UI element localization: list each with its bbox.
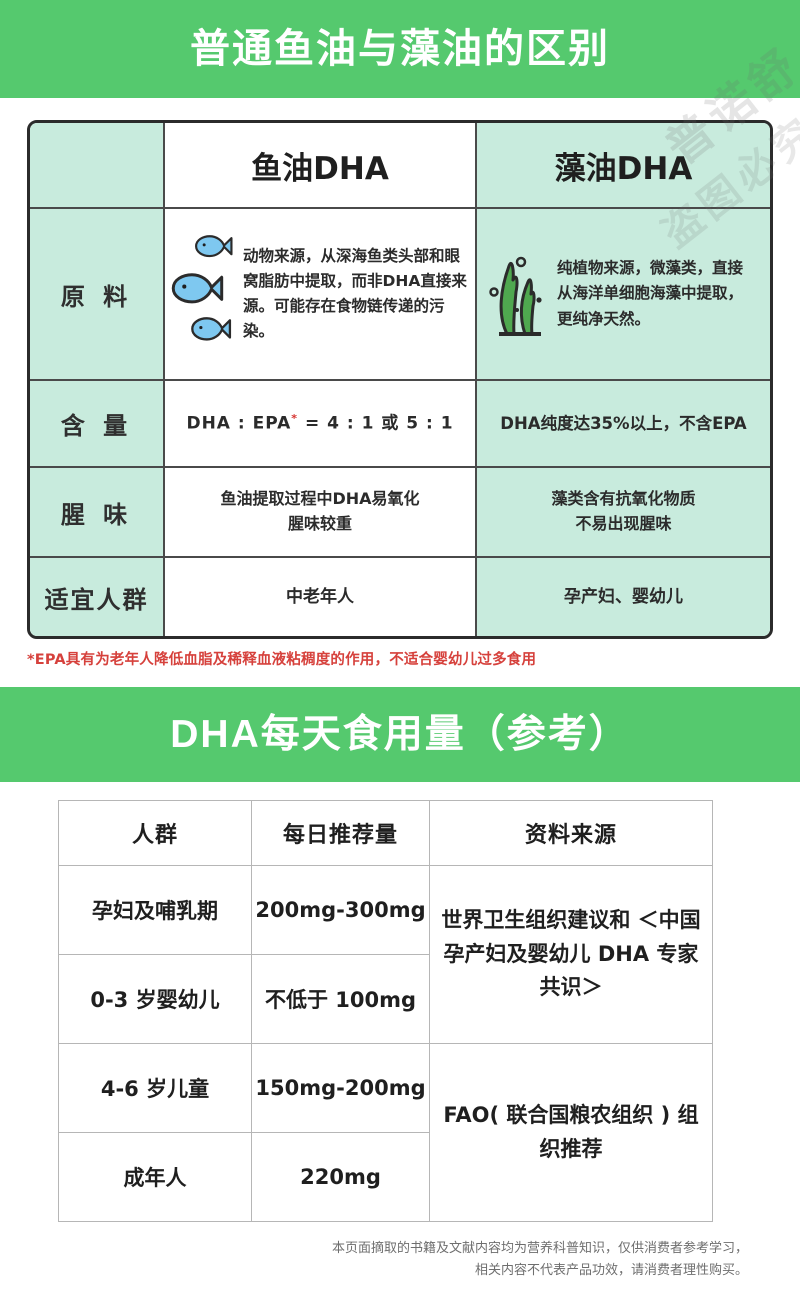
- dosage-group-1: 0-3 岁婴幼儿: [59, 955, 252, 1044]
- dosage-table: 人群 每日推荐量 资料来源 孕妇及哺乳期 200mg-300mg 世界卫生组织建…: [58, 800, 713, 1222]
- disclaimer-line-2: 相关内容不代表产品功效，请消费者理性购买。: [0, 1260, 748, 1282]
- dosage-amount-1: 不低于 100mg: [252, 955, 430, 1044]
- section-1-title: 普通鱼油与藻油的区别: [190, 29, 610, 69]
- fish-icon: [169, 229, 239, 359]
- dosage-header-amount: 每日推荐量: [252, 801, 430, 866]
- disclaimer-line-1: 本页面摘取的书籍及文献内容均为营养科普知识，仅供消费者参考学习，: [0, 1238, 748, 1260]
- section-2-title: DHA每天食用量（参考）: [170, 715, 630, 754]
- cell-fish-smell-line1: 鱼油提取过程中DHA易氧化: [165, 487, 475, 512]
- dosage-source-who: 世界卫生组织建议和 ＜中国孕产妇及婴幼儿 DHA 专家共识＞: [430, 866, 713, 1044]
- content-ratio-suffix: = 4 : 1 或 5 : 1: [298, 414, 454, 434]
- epa-footnote: *EPA具有为老年人降低血脂及稀释血液粘稠度的作用，不适合婴幼儿过多食用: [27, 648, 773, 669]
- section-divider: [0, 669, 800, 687]
- dosage-header-source: 资料来源: [430, 801, 713, 866]
- table-row: 4-6 岁儿童 150mg-200mg FAO( 联合国粮农组织 ) 组织推荐: [59, 1044, 713, 1133]
- dosage-group-0: 孕妇及哺乳期: [59, 866, 252, 955]
- content-ratio-prefix: DHA : EPA: [186, 414, 291, 434]
- promo-page: 普诺舒 盗图必究 普通鱼油与藻油的区别 鱼油DHA 藻油DHA 原 料: [0, 0, 800, 1303]
- comparison-header-row: 鱼油DHA 藻油DHA: [30, 123, 770, 209]
- dosage-group-2: 4-6 岁儿童: [59, 1044, 252, 1133]
- row-label-fishy-smell: 腥 味: [30, 468, 165, 558]
- section-1-banner: 普通鱼油与藻油的区别: [0, 0, 800, 98]
- cell-algae-smell-line2: 不易出现腥味: [477, 512, 770, 537]
- comparison-corner-cell: [30, 123, 165, 209]
- cell-algae-content: DHA纯度达35%以上，不含EPA: [477, 381, 770, 468]
- dosage-amount-3: 220mg: [252, 1133, 430, 1222]
- dosage-amount-2: 150mg-200mg: [252, 1044, 430, 1133]
- comparison-section: 鱼油DHA 藻油DHA 原 料: [0, 98, 800, 639]
- section-2-banner: DHA每天食用量（参考）: [0, 687, 800, 782]
- comparison-row-fishy-smell: 腥 味 鱼油提取过程中DHA易氧化 腥味较重 藻类含有抗氧化物质 不易出现腥味: [30, 468, 770, 558]
- row-label-content: 含 量: [30, 381, 165, 468]
- comparison-header-fish: 鱼油DHA: [165, 123, 477, 209]
- cell-fish-smell-line2: 腥味较重: [165, 512, 475, 537]
- seaweed-icon: [487, 242, 549, 347]
- dosage-amount-0: 200mg-300mg: [252, 866, 430, 955]
- cell-algae-target-group: 孕产妇、婴幼儿: [477, 558, 770, 636]
- cell-fish-target-group: 中老年人: [165, 558, 477, 636]
- row-label-target-group: 适宜人群: [30, 558, 165, 636]
- cell-fish-raw-material: 动物来源，从深海鱼类头部和眼窝脂肪中提取，而非DHA直接来源。可能存在食物链传递…: [165, 209, 477, 381]
- cell-text-algae-raw-material: 纯植物来源，微藻类，直接从海洋单细胞海藻中提取，更纯净天然。: [557, 256, 758, 331]
- row-label-raw-material: 原 料: [30, 209, 165, 381]
- comparison-table: 鱼油DHA 藻油DHA 原 料: [27, 120, 773, 639]
- dosage-group-3: 成年人: [59, 1133, 252, 1222]
- cell-fish-fishy-smell: 鱼油提取过程中DHA易氧化 腥味较重: [165, 468, 477, 558]
- dosage-section: 人群 每日推荐量 资料来源 孕妇及哺乳期 200mg-300mg 世界卫生组织建…: [0, 782, 800, 1282]
- comparison-row-raw-material: 原 料: [30, 209, 770, 381]
- cell-text-fish-raw-material: 动物来源，从深海鱼类头部和眼窝脂肪中提取，而非DHA直接来源。可能存在食物链传递…: [243, 244, 467, 344]
- cell-algae-fishy-smell: 藻类含有抗氧化物质 不易出现腥味: [477, 468, 770, 558]
- comparison-row-target-group: 适宜人群 中老年人 孕产妇、婴幼儿: [30, 558, 770, 636]
- comparison-row-content: 含 量 DHA : EPA* = 4 : 1 或 5 : 1 DHA纯度达35%…: [30, 381, 770, 468]
- dosage-header-group: 人群: [59, 801, 252, 866]
- cell-algae-smell-line1: 藻类含有抗氧化物质: [477, 487, 770, 512]
- comparison-header-algae: 藻油DHA: [477, 123, 770, 209]
- table-row: 孕妇及哺乳期 200mg-300mg 世界卫生组织建议和 ＜中国孕产妇及婴幼儿 …: [59, 866, 713, 955]
- disclaimer: 本页面摘取的书籍及文献内容均为营养科普知识，仅供消费者参考学习， 相关内容不代表…: [0, 1222, 800, 1282]
- cell-algae-raw-material: 纯植物来源，微藻类，直接从海洋单细胞海藻中提取，更纯净天然。: [477, 209, 770, 381]
- dosage-header-row: 人群 每日推荐量 资料来源: [59, 801, 713, 866]
- dosage-source-fao: FAO( 联合国粮农组织 ) 组织推荐: [430, 1044, 713, 1222]
- cell-fish-content: DHA : EPA* = 4 : 1 或 5 : 1: [165, 381, 477, 468]
